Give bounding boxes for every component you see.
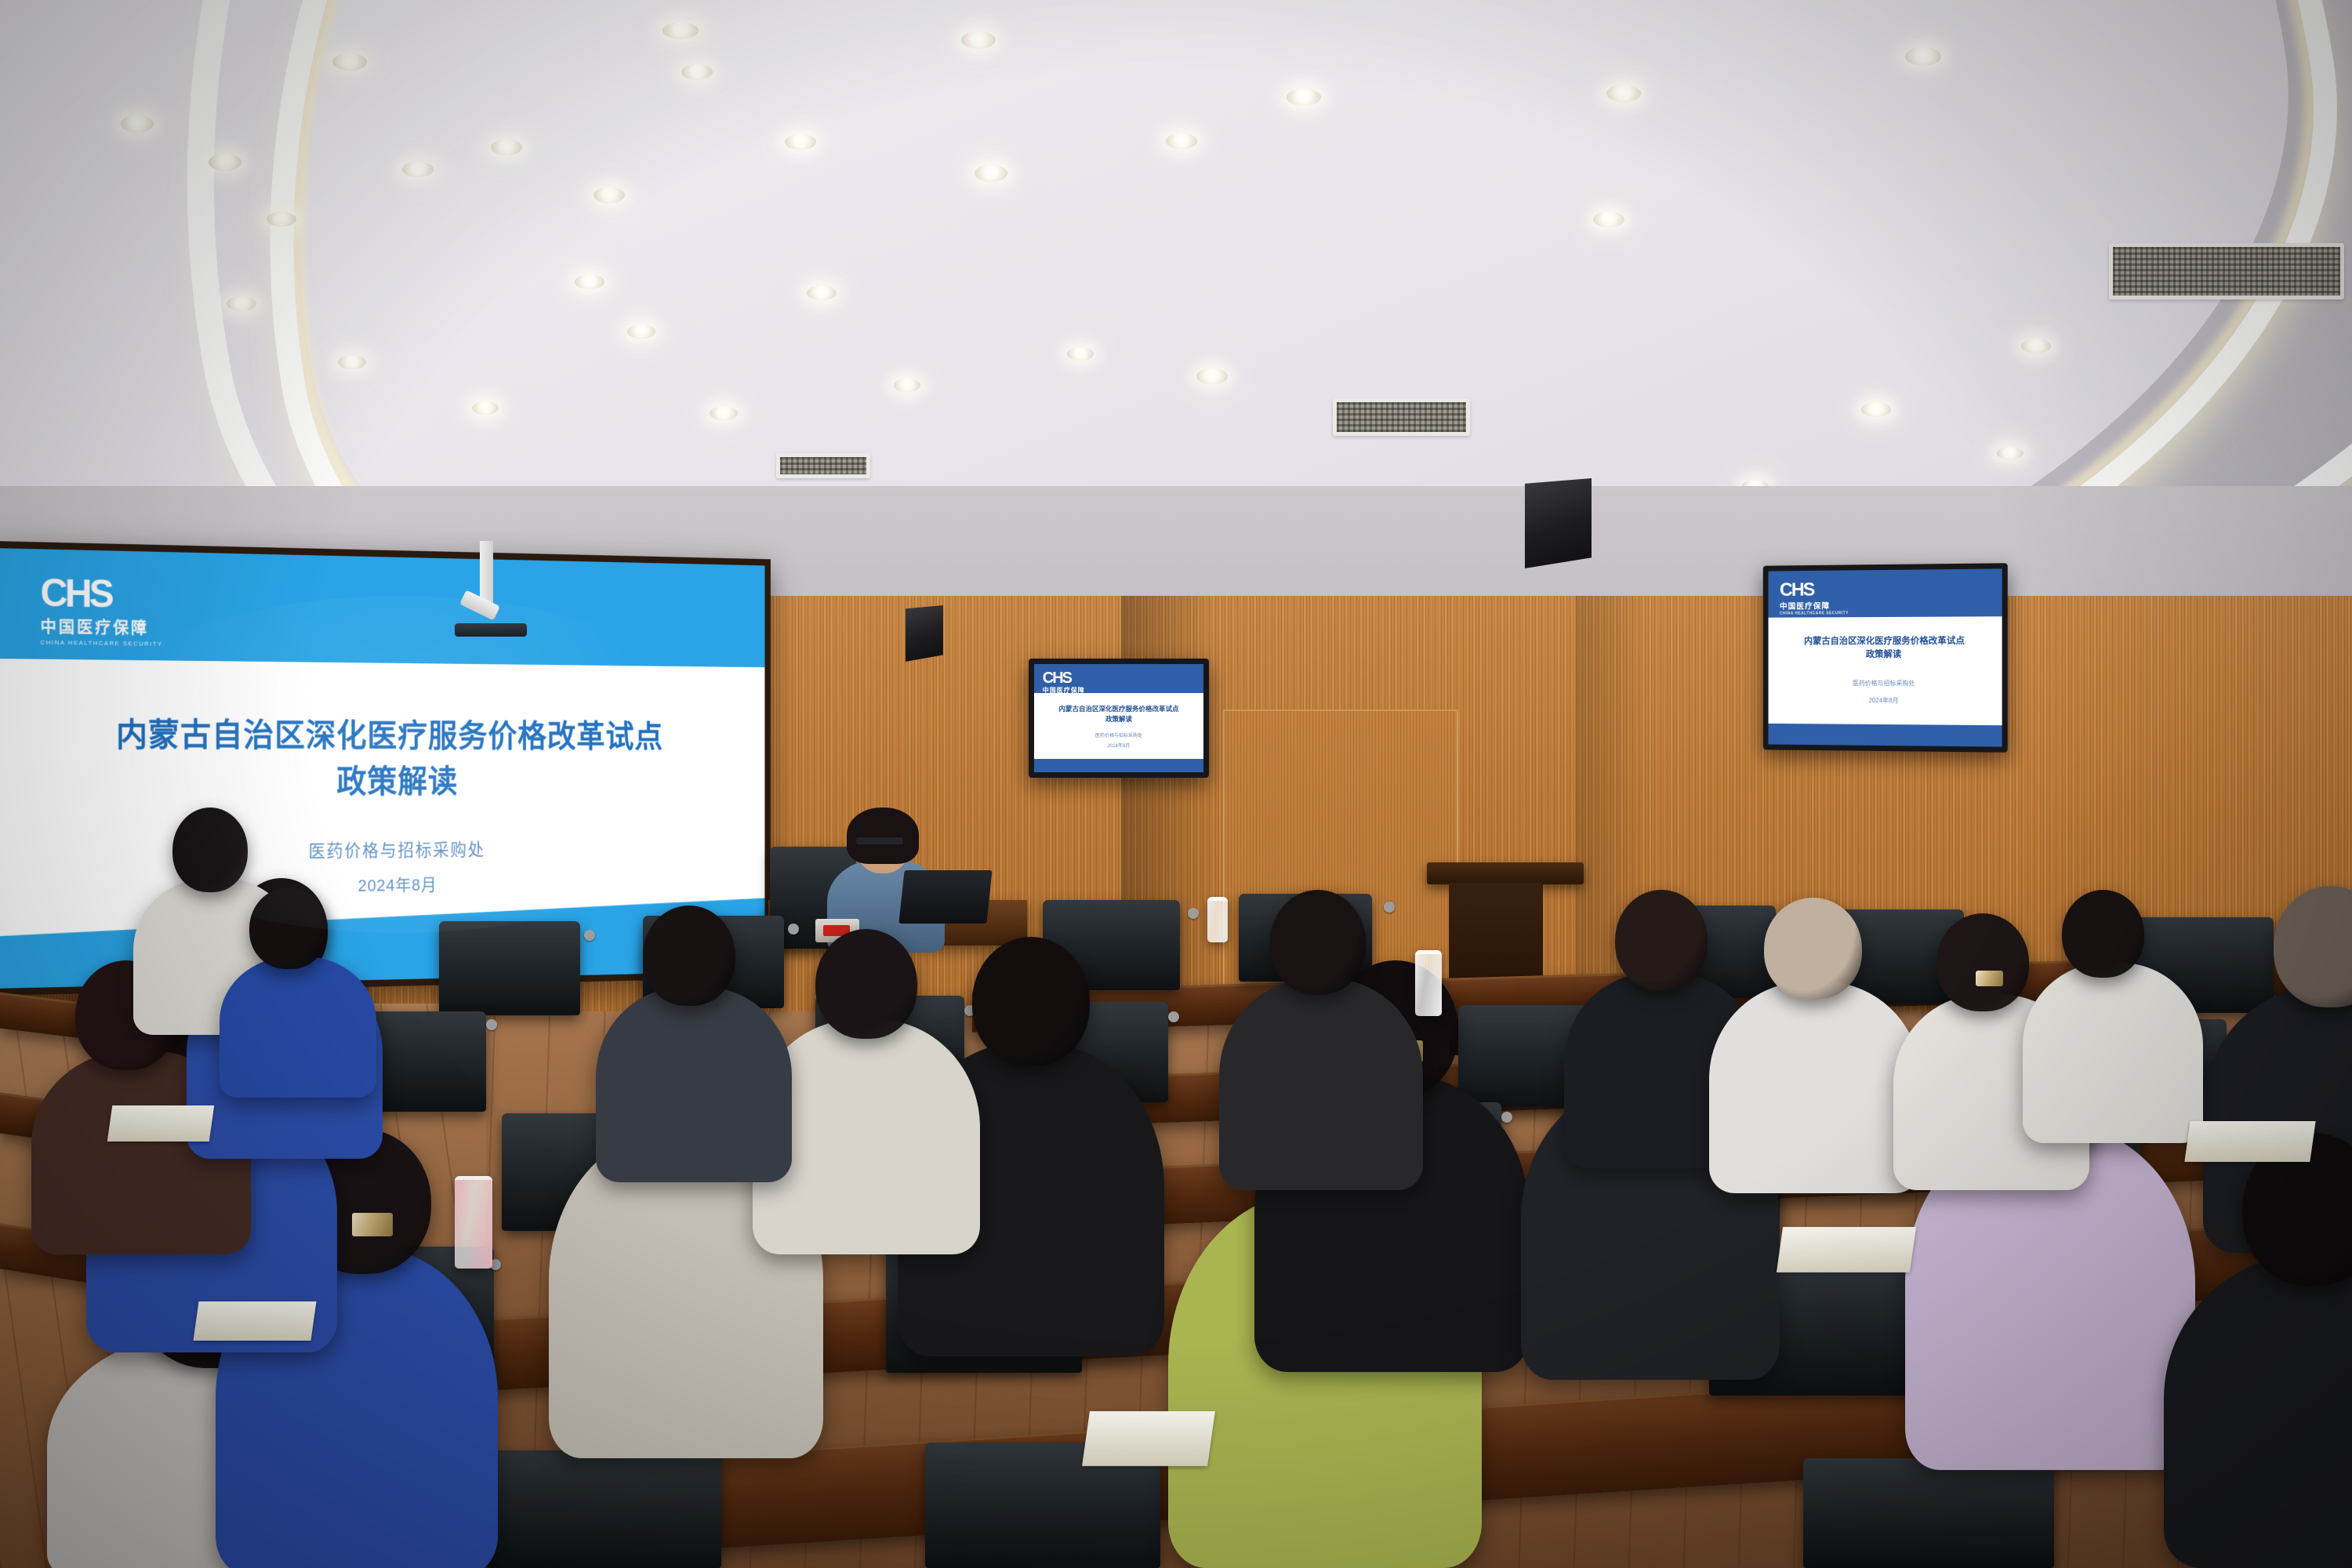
downlight-icon <box>1067 347 1094 361</box>
notepad-2[interactable] <box>1777 1227 1916 1272</box>
downlight-icon <box>402 162 434 177</box>
downlight-icon <box>662 22 699 39</box>
downlight-icon <box>2021 339 2051 354</box>
chs-logo-chinese: 中国医疗保障 <box>41 614 163 639</box>
air-vent-icon <box>2109 243 2344 299</box>
wall-speaker-left <box>906 605 943 662</box>
right-monitor-subtitle: 医药价格与招标采购处 <box>1782 679 1987 688</box>
chair-r1-3[interactable] <box>1803 1458 2054 1568</box>
chs-logo-mark: CHS <box>41 573 163 614</box>
downlight-icon <box>1905 47 1941 66</box>
center-monitor-title-line-1: 内蒙古自治区深化医疗服务价格改革试点 <box>1044 704 1193 714</box>
chair-knob-icon <box>1188 908 1199 919</box>
center-monitor-title: 内蒙古自治区深化医疗服务价格改革试点 政策解读 <box>1044 704 1193 724</box>
ceiling <box>0 0 2352 549</box>
attendee-torso <box>596 986 792 1182</box>
right-monitor-title-line-2: 政策解读 <box>1782 648 1987 662</box>
downlight-icon <box>332 53 367 71</box>
attendee-head <box>2062 890 2144 978</box>
chair-knob-icon <box>1501 1112 1512 1123</box>
center-monitor: CHS 中国医疗保障 CHINA HEALTHCARE SECURITY 内蒙古… <box>1029 659 1209 778</box>
attendee-head <box>643 906 735 1006</box>
downlight-icon <box>491 140 522 155</box>
downlight-icon <box>267 212 296 227</box>
right-monitor-date: 2024年8月 <box>1782 696 1987 706</box>
chair-knob-icon <box>1384 902 1395 913</box>
hair-clip-icon <box>1976 971 2003 986</box>
downlight-icon <box>961 31 996 49</box>
downlight-icon <box>710 406 738 420</box>
attendee-head <box>1764 898 1862 1000</box>
thermos-white[interactable] <box>1207 897 1228 942</box>
right-monitor-screen: CHS 中国医疗保障 CHINA HEALTHCARE SECURITY 内蒙古… <box>1769 568 2002 746</box>
center-monitor-logo: CHS 中国医疗保障 CHINA HEALTHCARE SECURITY <box>1043 670 1102 699</box>
presenter-laptop <box>898 870 992 924</box>
downlight-icon <box>1196 368 1228 384</box>
attendee-head <box>1936 913 2029 1011</box>
right-monitor-logo-chinese: 中国医疗保障 <box>1780 600 1849 612</box>
attendee-torso <box>2023 963 2203 1143</box>
downlight-icon <box>681 64 713 80</box>
center-monitor-footer-band <box>1034 759 1203 772</box>
center-monitor-logo-english: CHINA HEALTHCARE SECURITY <box>1043 695 1102 699</box>
downlight-icon <box>1166 133 1197 149</box>
notepad-1[interactable] <box>1082 1411 1215 1466</box>
notepad-4[interactable] <box>107 1105 214 1142</box>
chair-knob-icon <box>486 1019 497 1030</box>
slide-title: 内蒙古自治区深化医疗服务价格改革试点 政策解读 <box>65 711 708 806</box>
downlight-icon <box>1593 212 1624 227</box>
right-monitor-logo: CHS 中国医疗保障 CHINA HEALTHCARE SECURITY <box>1780 581 1849 616</box>
center-monitor-subtitle: 医药价格与招标采购处 <box>1044 731 1193 739</box>
downlight-icon <box>1861 402 1891 417</box>
downlight-icon <box>1997 447 2024 459</box>
presenter-glasses-icon <box>856 837 903 844</box>
air-vent-icon <box>776 453 870 478</box>
attendee-head <box>1270 890 1366 995</box>
attendee-head <box>172 808 248 892</box>
chair-r5-1[interactable] <box>439 921 580 1015</box>
downlight-icon <box>338 355 366 369</box>
chs-logo: CHS 中国医疗保障 CHINA HEALTHCARE SECURITY <box>41 573 163 648</box>
right-monitor: CHS 中国医疗保障 CHINA HEALTHCARE SECURITY 内蒙古… <box>1763 563 2008 753</box>
water-bottle-pink[interactable] <box>455 1176 492 1269</box>
downlight-icon <box>975 165 1007 182</box>
downlight-icon <box>1606 85 1641 102</box>
downlight-icon <box>575 274 604 289</box>
chair-knob-icon <box>1168 1011 1179 1022</box>
hair-clip-icon <box>352 1213 394 1236</box>
center-monitor-title-line-2: 政策解读 <box>1044 714 1193 724</box>
chair-r1-1[interactable] <box>486 1450 721 1568</box>
notepad-3[interactable] <box>2184 1121 2315 1162</box>
attendee-head <box>1615 890 1708 990</box>
center-monitor-date: 2024年8月 <box>1044 742 1193 749</box>
presenter-hair <box>847 808 919 864</box>
center-monitor-logo-chinese: 中国医疗保障 <box>1043 686 1102 695</box>
downlight-icon <box>209 154 241 171</box>
ceiling-projector-icon <box>455 623 527 637</box>
water-bottle-white[interactable] <box>1415 950 1442 1016</box>
center-monitor-screen: CHS 中国医疗保障 CHINA HEALTHCARE SECURITY 内蒙古… <box>1034 664 1203 772</box>
air-vent-icon <box>1333 398 1470 436</box>
wall-speaker-right <box>1525 478 1592 568</box>
downlight-icon <box>807 285 837 300</box>
right-monitor-logo-english: CHINA HEALTHCARE SECURITY <box>1780 612 1849 616</box>
attendee-torso <box>220 956 376 1098</box>
attendee-head <box>815 929 917 1039</box>
attendee-torso <box>1709 982 1921 1193</box>
downlight-icon <box>472 401 499 415</box>
downlight-icon <box>227 296 256 311</box>
downlight-icon <box>627 325 655 339</box>
downlight-icon <box>1287 89 1321 106</box>
right-monitor-logo-mark: CHS <box>1780 581 1849 601</box>
downlight-icon <box>121 115 154 132</box>
attendee-head <box>249 887 328 969</box>
attendee-head <box>972 937 1090 1066</box>
conference-room-photo: CHS 中国医疗保障 CHINA HEALTHCARE SECURITY 内蒙古… <box>0 0 2352 1568</box>
downlight-icon <box>894 379 920 392</box>
right-monitor-title: 内蒙古自治区深化医疗服务价格改革试点 政策解读 <box>1782 635 1987 662</box>
center-monitor-logo-mark: CHS <box>1043 670 1102 686</box>
notepad-5[interactable] <box>193 1301 316 1341</box>
right-monitor-title-line-1: 内蒙古自治区深化医疗服务价格改革试点 <box>1782 635 1987 649</box>
downlight-icon <box>785 134 816 150</box>
right-monitor-footer-band <box>1769 724 2002 747</box>
slide-title-line-1: 内蒙古自治区深化医疗服务价格改革试点 <box>65 711 708 759</box>
chair-knob-icon <box>788 924 799 935</box>
lectern-top <box>1427 862 1584 884</box>
downlight-icon <box>593 187 625 203</box>
slide-subtitle: 医药价格与招标采购处 <box>65 833 708 865</box>
attendee-torso <box>1219 978 1423 1190</box>
chair-knob-icon <box>584 930 595 941</box>
slide-title-line-2: 政策解读 <box>65 759 708 806</box>
